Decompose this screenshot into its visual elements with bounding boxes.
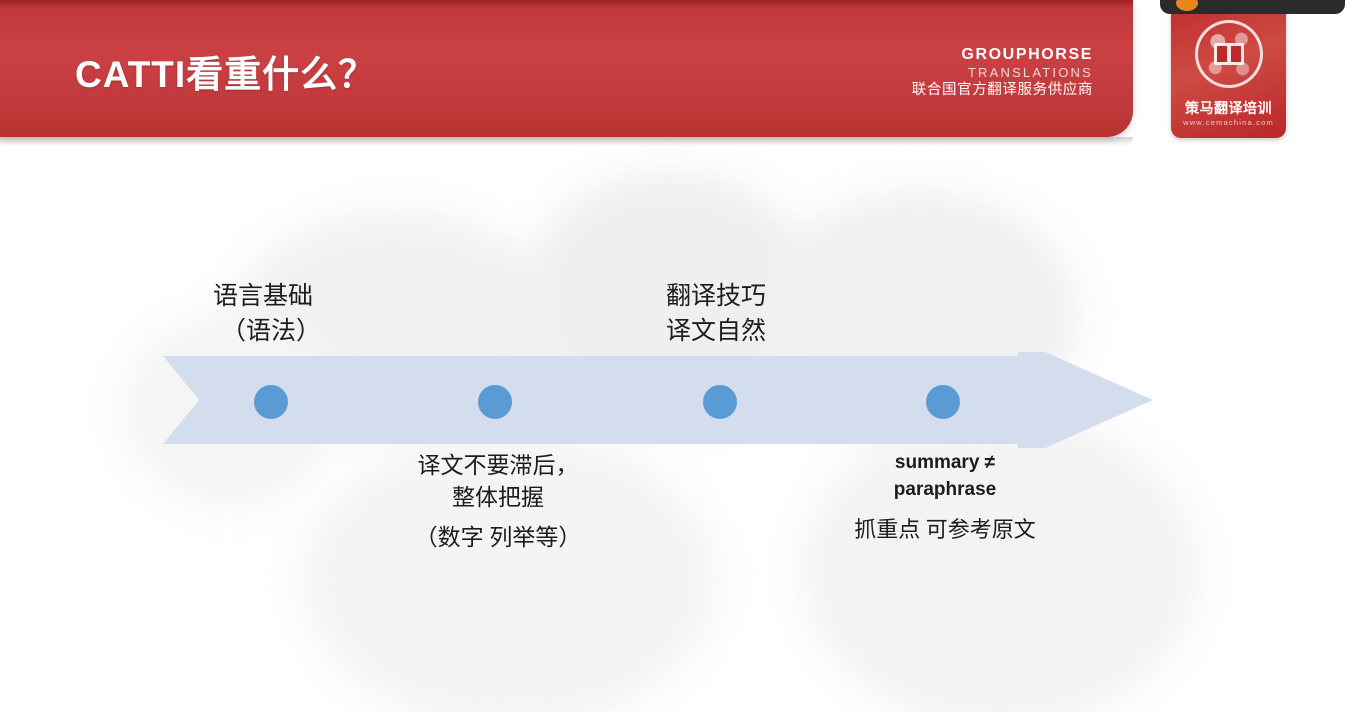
milestone-2-line-3: （数字 列举等） [403,522,593,554]
timeline-dot [253,384,289,420]
brand-name-en: GROUPHORSE [912,46,1093,65]
milestone-label-1: 语言基础 （语法） [213,280,321,349]
seal-icon [1195,20,1263,88]
milestone-1-line-2: （语法） [213,315,321,350]
badge-url: www.cemachina.com [1171,118,1286,127]
milestone-4-en-line-2: paraphrase [845,477,1045,504]
timeline-dot [925,384,961,420]
slide-header-banner: CATTI看重什么？ GROUPHORSE TRANSLATIONS 联合国官方… [0,0,1133,137]
page-title: CATTI看重什么？ [75,56,376,93]
seal-inner-glyph [1214,43,1244,65]
milestone-label-3: 翻译技巧 译文自然 [666,280,766,349]
slide-canvas: CATTI看重什么？ GROUPHORSE TRANSLATIONS 联合国官方… [0,0,1350,712]
cema-badge: 策马翻译培训 www.cemachina.com [1171,4,1286,138]
milestone-4-cn-line-1: 抓重点 可参考原文 [845,515,1045,545]
brand-name-en-sub: TRANSLATIONS [912,65,1093,80]
arrow-shape-icon [163,352,1153,448]
milestone-label-2: 译文不要滞后， 整体把握 （数字 列举等） [403,450,593,554]
brand-lockup: GROUPHORSE TRANSLATIONS 联合国官方翻译服务供应商 [912,46,1093,99]
timeline-dot [477,384,513,420]
brand-tagline-cn: 联合国官方翻译服务供应商 [912,82,1093,99]
milestone-label-4: summary ≠ paraphrase 抓重点 可参考原文 [845,450,1045,545]
milestone-2-line-1: 译文不要滞后， [403,450,593,482]
milestone-2-line-2: 整体把握 [403,482,593,514]
milestone-3-line-1: 翻译技巧 [666,280,766,315]
timeline-dot [702,384,738,420]
milestone-4-en-line-1: summary ≠ [845,450,1045,477]
badge-label-cn: 策马翻译培训 [1171,98,1286,118]
timeline-arrow [163,352,1153,448]
milestone-1-line-1: 语言基础 [213,280,321,315]
milestone-3-line-2: 译文自然 [666,315,766,350]
